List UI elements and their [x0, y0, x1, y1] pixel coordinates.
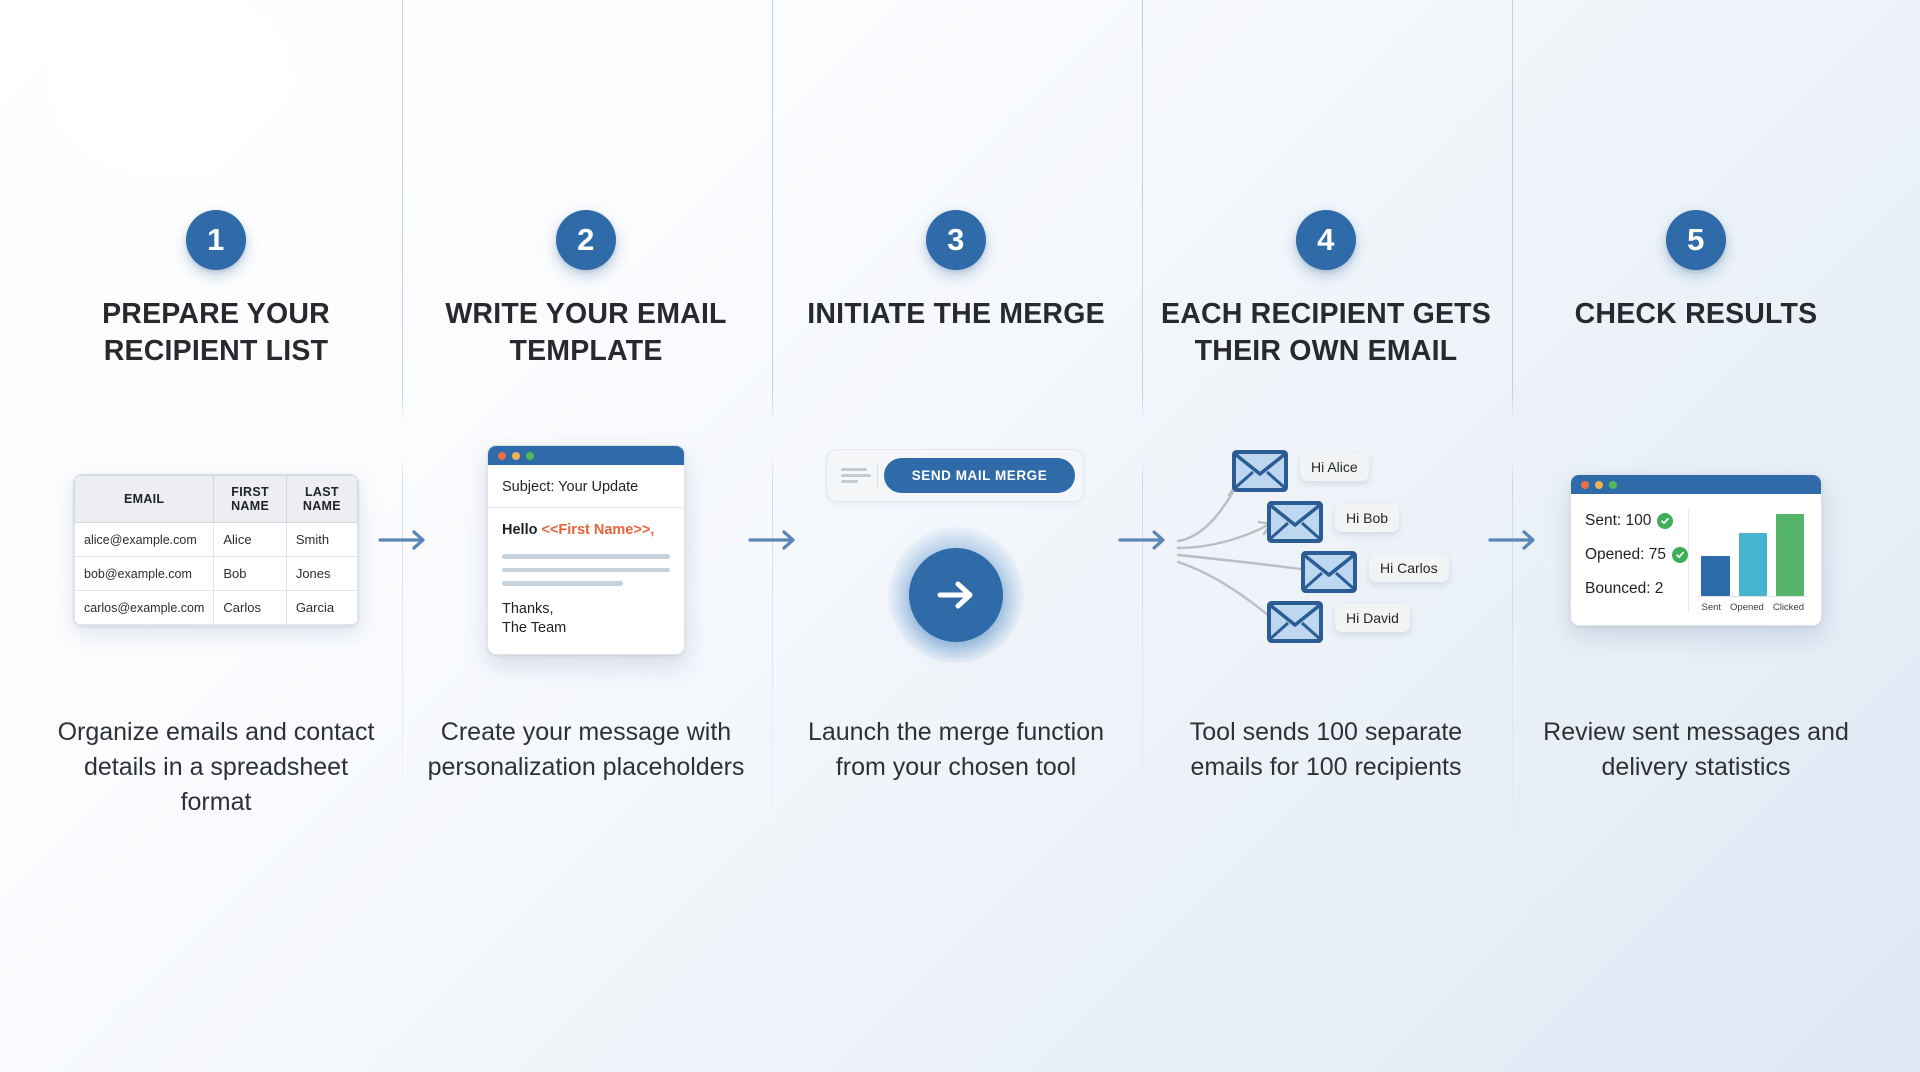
email-signoff: Thanks, The Team: [502, 600, 670, 638]
recipient-chip: Hi Carlos: [1369, 554, 1449, 582]
bar-clicked: [1776, 514, 1804, 596]
recipient-table: EMAIL FIRST NAME LAST NAME alice@example…: [74, 475, 358, 625]
envelope-icon: [1267, 601, 1323, 643]
step-description-2: Create your message with personalization…: [400, 715, 772, 785]
window-titlebar: [488, 446, 684, 465]
greeting-prefix: Hello: [502, 522, 541, 538]
email-greeting: Hello <<First Name>>,: [502, 522, 670, 538]
step-title-1: PREPARE YOUR RECIPIENT LIST: [30, 296, 402, 370]
merge-action-group: [888, 527, 1024, 663]
x-label-clicked: Clicked: [1773, 602, 1804, 613]
merge-placeholder: <<First Name>>: [541, 522, 650, 538]
recipient-chip: Hi Bob: [1335, 504, 1399, 532]
step-badge-1: 1: [186, 210, 246, 270]
bar-opened: [1739, 533, 1767, 596]
merge-toolbar: SEND MAIL MERGE: [826, 449, 1084, 502]
column-header-first-name: FIRST NAME: [214, 476, 286, 523]
toolbar-divider: [877, 463, 878, 489]
step-badge-2: 2: [556, 210, 616, 270]
step-column-1: 1 PREPARE YOUR RECIPIENT LIST EMAIL FIRS…: [30, 0, 402, 1072]
x-label-sent: Sent: [1701, 602, 1721, 613]
recipient-fanout: Hi Alice Hi Bob Hi Carlos Hi David: [1176, 445, 1476, 655]
window-minimize-dot-icon: [1595, 481, 1603, 489]
email-template-window: Subject: Your Update Hello <<First Name>…: [487, 445, 685, 655]
step-description-5: Review sent messages and delivery statis…: [1510, 715, 1882, 785]
cell-email: alice@example.com: [75, 523, 214, 557]
envelope-icon: [1301, 551, 1357, 593]
step-art-1: EMAIL FIRST NAME LAST NAME alice@example…: [30, 410, 402, 690]
stats-list: Sent: 100 Opened: 75 Bounced: 2: [1571, 508, 1688, 613]
step-column-3: 3 INITIATE THE MERGE SEND MAIL MERGE: [770, 0, 1142, 1072]
cell-last-name: Jones: [286, 557, 357, 591]
step-description-4: Tool sends 100 separate emails for 100 r…: [1140, 715, 1512, 785]
cell-email: carlos@example.com: [75, 591, 214, 625]
column-header-last-name: LAST NAME: [286, 476, 357, 523]
merge-action-button[interactable]: [909, 548, 1003, 642]
step-column-2: 2 WRITE YOUR EMAIL TEMPLATE Subject: You…: [400, 0, 772, 1072]
envelope-icon: [1232, 450, 1288, 492]
step-column-5: 5 CHECK RESULTS Sent: 100: [1510, 0, 1882, 1072]
x-label-opened: Opened: [1730, 602, 1764, 613]
cell-email: bob@example.com: [75, 557, 214, 591]
check-circle-icon: [1672, 547, 1688, 563]
menu-lines-icon[interactable]: [827, 465, 875, 486]
arrow-right-icon: [934, 578, 978, 612]
cell-first-name: Carlos: [214, 591, 286, 625]
email-body: Hello <<First Name>>, Thanks, The Team: [488, 508, 684, 654]
window-titlebar: [1571, 475, 1821, 494]
window-close-dot-icon: [1581, 481, 1589, 489]
envelope-icon: [1267, 501, 1323, 543]
column-header-email: EMAIL: [75, 476, 214, 523]
email-subject: Subject: Your Update: [488, 465, 684, 508]
signoff-line-2: The Team: [502, 619, 670, 638]
merge-toolbar-group: SEND MAIL MERGE: [826, 435, 1086, 665]
step-art-4: Hi Alice Hi Bob Hi Carlos Hi David: [1140, 410, 1512, 690]
window-maximize-dot-icon: [526, 452, 534, 460]
infographic-board: 1 PREPARE YOUR RECIPIENT LIST EMAIL FIRS…: [0, 0, 1920, 1072]
step-art-3: SEND MAIL MERGE: [770, 410, 1142, 690]
step-title-4: EACH RECIPIENT GETS THEIR OWN EMAIL: [1140, 296, 1512, 370]
table-row: carlos@example.com Carlos Garcia: [75, 591, 358, 625]
cell-first-name: Bob: [214, 557, 286, 591]
window-minimize-dot-icon: [512, 452, 520, 460]
chart-x-labels: Sent Opened Clicked: [1698, 597, 1807, 613]
step-column-4: 4 EACH RECIPIENT GETS THEIR OWN EMAIL: [1140, 0, 1512, 1072]
results-window: Sent: 100 Opened: 75 Bounced: 2: [1570, 474, 1822, 626]
stat-label: Bounced: 2: [1585, 580, 1663, 598]
body-placeholder-line: [502, 568, 670, 573]
check-circle-icon: [1657, 513, 1673, 529]
send-mail-merge-button[interactable]: SEND MAIL MERGE: [884, 458, 1075, 493]
chart-bars: [1698, 508, 1807, 597]
stat-item-sent: Sent: 100: [1585, 512, 1688, 530]
step-art-5: Sent: 100 Opened: 75 Bounced: 2: [1510, 410, 1882, 690]
cell-first-name: Alice: [214, 523, 286, 557]
step-title-2: WRITE YOUR EMAIL TEMPLATE: [400, 296, 772, 370]
recipient-chip: Hi David: [1335, 604, 1410, 632]
step-art-2: Subject: Your Update Hello <<First Name>…: [400, 410, 772, 690]
step-title-3: INITIATE THE MERGE: [770, 296, 1142, 333]
window-maximize-dot-icon: [1609, 481, 1617, 489]
signoff-line-1: Thanks,: [502, 600, 670, 619]
stat-label: Sent: 100: [1585, 512, 1651, 530]
table-row: alice@example.com Alice Smith: [75, 523, 358, 557]
step-title-5: CHECK RESULTS: [1510, 296, 1882, 333]
greeting-suffix: ,: [650, 522, 654, 538]
stat-item-bounced: Bounced: 2: [1585, 580, 1688, 598]
body-placeholder-line: [502, 554, 670, 559]
body-placeholder-line: [502, 581, 623, 586]
stats-divider: [1688, 510, 1689, 611]
cell-last-name: Garcia: [286, 591, 357, 625]
bar-sent: [1701, 556, 1729, 596]
stat-item-opened: Opened: 75: [1585, 546, 1688, 564]
table-row: bob@example.com Bob Jones: [75, 557, 358, 591]
step-badge-4: 4: [1296, 210, 1356, 270]
step-description-1: Organize emails and contact details in a…: [30, 715, 402, 820]
step-description-3: Launch the merge function from your chos…: [770, 715, 1142, 785]
table-header-row: EMAIL FIRST NAME LAST NAME: [75, 476, 358, 523]
step-badge-5: 5: [1666, 210, 1726, 270]
recipient-chip: Hi Alice: [1300, 453, 1369, 481]
window-close-dot-icon: [498, 452, 506, 460]
results-body: Sent: 100 Opened: 75 Bounced: 2: [1571, 494, 1821, 625]
recipient-spreadsheet: EMAIL FIRST NAME LAST NAME alice@example…: [73, 474, 359, 626]
stat-label: Opened: 75: [1585, 546, 1666, 564]
step-badge-3: 3: [926, 210, 986, 270]
results-bar-chart: Sent Opened Clicked: [1698, 508, 1821, 613]
cell-last-name: Smith: [286, 523, 357, 557]
